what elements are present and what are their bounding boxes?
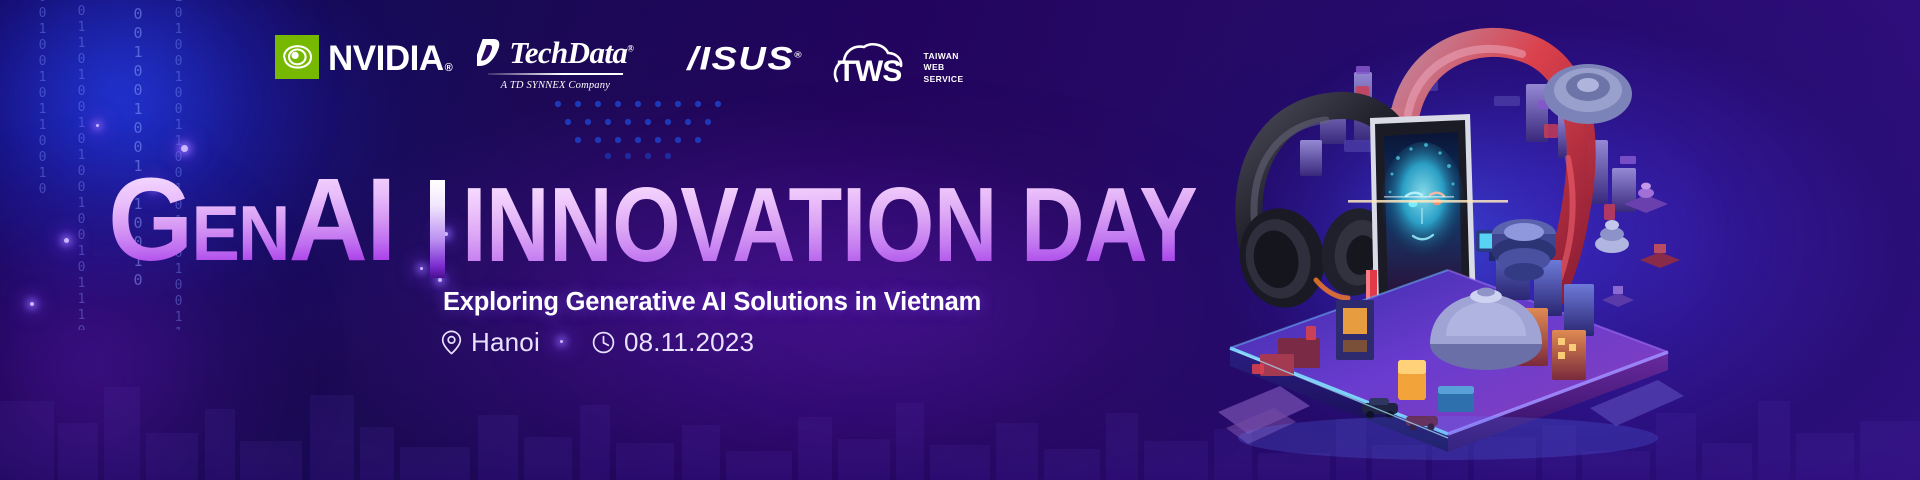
headline-group: GENAI INNOVATION DAY <box>108 172 1298 278</box>
event-location: Hanoi <box>441 327 540 358</box>
logo-nvidia[interactable]: NVIDIA® <box>275 34 451 80</box>
subtitle: Exploring Generative AI Solutions in Vie… <box>443 288 981 317</box>
location-pin-icon <box>441 330 462 355</box>
tws-wordmark: TWS <box>838 57 902 87</box>
nvidia-eye-icon <box>275 35 319 79</box>
page-title: INNOVATION DAY <box>462 174 1197 276</box>
sparkle-dot <box>438 278 442 282</box>
sparkle-dot <box>64 238 69 243</box>
tws-subline: WEB <box>924 62 964 73</box>
sparkle-dot <box>96 124 99 127</box>
techdata-d-icon <box>477 37 502 68</box>
headline-divider-bar <box>430 180 445 278</box>
genai-letters-en: EN <box>192 189 289 277</box>
event-meta-row: Hanoi 08.11.2023 <box>441 327 754 358</box>
techdata-underline-divider <box>488 73 623 75</box>
genai-letter-g: G <box>108 154 192 286</box>
sparkle-dot <box>30 302 34 306</box>
isometric-ai-city-illustration <box>1208 8 1688 472</box>
sparkle-dot <box>181 145 188 152</box>
genai-innovation-day-banner: 0010010110010 10110100101001001011100010… <box>0 0 1920 480</box>
event-date-label: 08.11.2023 <box>624 327 754 358</box>
tws-subline: TAIWAN <box>924 51 964 62</box>
sponsor-logo-bar: NVIDIA® TechData® A TD SYNNEX Company /I… <box>275 34 964 100</box>
event-date: 08.11.2023 <box>592 327 754 358</box>
clock-icon <box>592 331 615 354</box>
nvidia-wordmark: NVIDIA® <box>328 41 451 76</box>
genai-letters-ai: AI <box>289 154 395 286</box>
tws-sublines: TAIWAN WEB SERVICE <box>924 51 964 85</box>
genai-logotype: GENAI <box>108 172 395 269</box>
asus-wordmark: /ISUS® <box>687 43 801 76</box>
logo-tech-data[interactable]: TechData® A TD SYNNEX Company <box>477 34 633 100</box>
techdata-tagline: A TD SYNNEX Company <box>501 80 611 91</box>
tws-subline: SERVICE <box>924 74 964 85</box>
logo-tws[interactable]: TWS TAIWAN WEB SERVICE <box>832 40 964 88</box>
event-location-label: Hanoi <box>471 327 540 358</box>
techdata-wordmark: TechData® <box>509 37 633 68</box>
logo-asus[interactable]: /ISUS® <box>687 36 801 82</box>
